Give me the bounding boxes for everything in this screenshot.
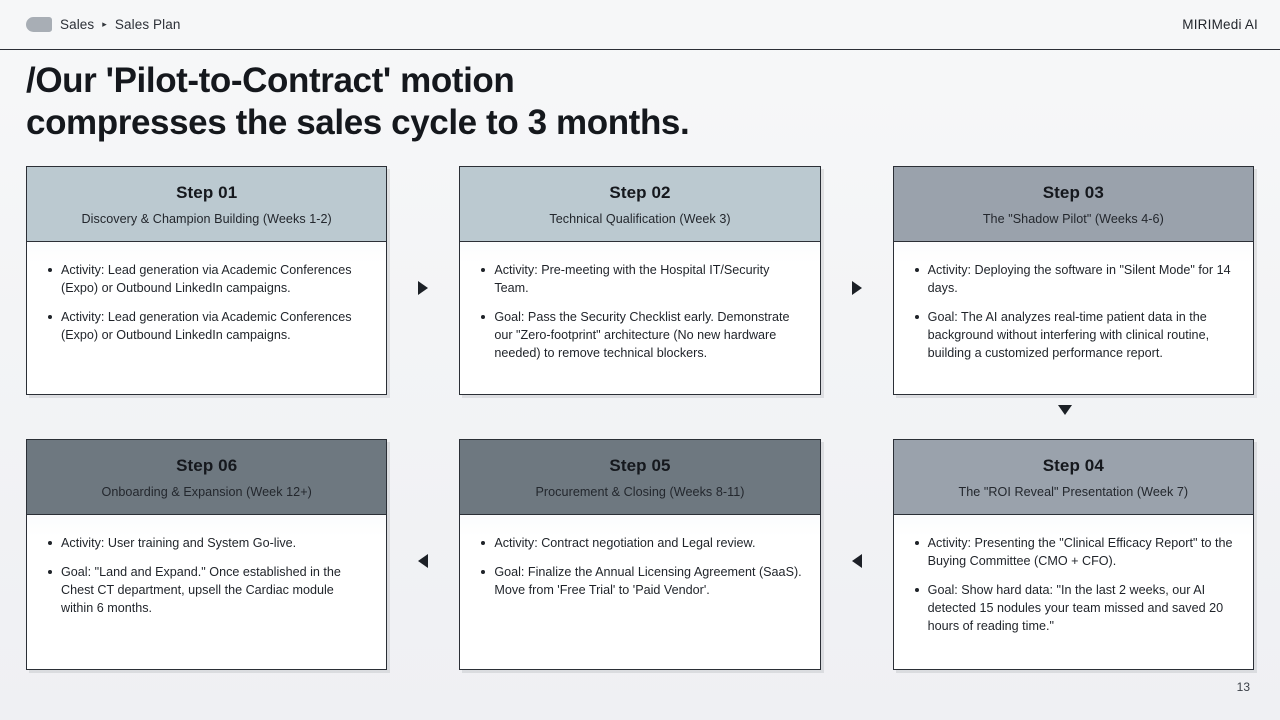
list-item: Activity: Lead generation via Academic C… bbox=[41, 262, 368, 298]
slide-canvas: Sales ▸ Sales Plan MIRIMedi AI /Our 'Pil… bbox=[0, 0, 1280, 720]
breadcrumb: Sales ▸ Sales Plan bbox=[26, 17, 180, 32]
step-card-04-title: Step 04 bbox=[906, 456, 1241, 476]
step-card-06-title: Step 06 bbox=[39, 456, 374, 476]
step-card-02-body: Activity: Pre-meeting with the Hospital … bbox=[460, 242, 819, 394]
list-item: Goal: The AI analyzes real-time patient … bbox=[908, 309, 1235, 363]
step-card-03-subtitle: The "Shadow Pilot" (Weeks 4-6) bbox=[906, 212, 1241, 226]
brand-label: MIRIMedi AI bbox=[1182, 17, 1258, 32]
breadcrumb-current[interactable]: Sales Plan bbox=[115, 17, 181, 32]
step-card-05-bullets: Activity: Contract negotiation and Legal… bbox=[474, 535, 801, 600]
step-card-01[interactable]: Step 01 Discovery & Champion Building (W… bbox=[26, 166, 387, 395]
steps-row-bottom: Step 06 Onboarding & Expansion (Week 12+… bbox=[26, 439, 1254, 670]
step-card-02-bullets: Activity: Pre-meeting with the Hospital … bbox=[474, 262, 801, 362]
step-card-03[interactable]: Step 03 The "Shadow Pilot" (Weeks 4-6) A… bbox=[893, 166, 1254, 395]
step-card-06-body: Activity: User training and System Go-li… bbox=[27, 515, 386, 669]
list-item: Activity: Contract negotiation and Legal… bbox=[474, 535, 801, 553]
list-item: Goal: "Land and Expand." Once establishe… bbox=[41, 564, 368, 618]
step-card-05-title: Step 05 bbox=[472, 456, 807, 476]
page-title-line-2: compresses the sales cycle to 3 months. bbox=[26, 102, 1240, 144]
step-card-05-subtitle: Procurement & Closing (Weeks 8-11) bbox=[472, 485, 807, 499]
step-card-06[interactable]: Step 06 Onboarding & Expansion (Week 12+… bbox=[26, 439, 387, 670]
top-bar: Sales ▸ Sales Plan MIRIMedi AI bbox=[0, 0, 1280, 50]
connector-02-to-03 bbox=[821, 166, 893, 295]
list-item: Activity: Pre-meeting with the Hospital … bbox=[474, 262, 801, 298]
step-card-05-header: Step 05 Procurement & Closing (Weeks 8-1… bbox=[460, 440, 819, 515]
step-card-01-title: Step 01 bbox=[39, 183, 374, 203]
connector-04-to-05 bbox=[821, 439, 893, 568]
step-card-01-body: Activity: Lead generation via Academic C… bbox=[27, 242, 386, 394]
steps-grid: Step 01 Discovery & Champion Building (W… bbox=[26, 166, 1254, 670]
page-title-line-1: /Our 'Pilot-to-Contract' motion bbox=[26, 60, 1240, 102]
arrow-left-icon bbox=[418, 554, 428, 568]
step-card-05-body: Activity: Contract negotiation and Legal… bbox=[460, 515, 819, 669]
pill-mark-icon bbox=[26, 17, 52, 32]
step-card-04-body: Activity: Presenting the "Clinical Effic… bbox=[894, 515, 1253, 669]
step-card-02-subtitle: Technical Qualification (Week 3) bbox=[472, 212, 807, 226]
breadcrumb-root[interactable]: Sales bbox=[60, 17, 94, 32]
arrow-right-icon bbox=[852, 281, 862, 295]
step-card-03-body: Activity: Deploying the software in "Sil… bbox=[894, 242, 1253, 394]
arrow-right-icon bbox=[418, 281, 428, 295]
step-card-01-bullets: Activity: Lead generation via Academic C… bbox=[41, 262, 368, 345]
step-card-04-header: Step 04 The "ROI Reveal" Presentation (W… bbox=[894, 440, 1253, 515]
step-card-01-header: Step 01 Discovery & Champion Building (W… bbox=[27, 167, 386, 242]
arrow-left-icon bbox=[852, 554, 862, 568]
list-item: Activity: User training and System Go-li… bbox=[41, 535, 368, 553]
connector-05-to-06 bbox=[387, 439, 459, 568]
list-item: Goal: Pass the Security Checklist early.… bbox=[474, 309, 801, 363]
page-title: /Our 'Pilot-to-Contract' motion compress… bbox=[26, 60, 1240, 144]
step-card-02[interactable]: Step 02 Technical Qualification (Week 3)… bbox=[459, 166, 820, 395]
list-item: Goal: Finalize the Annual Licensing Agre… bbox=[474, 564, 801, 600]
step-card-04[interactable]: Step 04 The "ROI Reveal" Presentation (W… bbox=[893, 439, 1254, 670]
page-number: 13 bbox=[1237, 680, 1250, 694]
step-card-03-header: Step 03 The "Shadow Pilot" (Weeks 4-6) bbox=[894, 167, 1253, 242]
connector-01-to-02 bbox=[387, 166, 459, 295]
step-card-03-bullets: Activity: Deploying the software in "Sil… bbox=[908, 262, 1235, 362]
step-card-05[interactable]: Step 05 Procurement & Closing (Weeks 8-1… bbox=[459, 439, 820, 670]
chevron-right-icon: ▸ bbox=[102, 20, 107, 29]
list-item: Goal: Show hard data: "In the last 2 wee… bbox=[908, 582, 1235, 636]
step-card-04-bullets: Activity: Presenting the "Clinical Effic… bbox=[908, 535, 1235, 635]
step-card-04-subtitle: The "ROI Reveal" Presentation (Week 7) bbox=[906, 485, 1241, 499]
step-card-06-header: Step 06 Onboarding & Expansion (Week 12+… bbox=[27, 440, 386, 515]
list-item: Activity: Presenting the "Clinical Effic… bbox=[908, 535, 1235, 571]
list-item: Activity: Lead generation via Academic C… bbox=[41, 309, 368, 345]
steps-row-top: Step 01 Discovery & Champion Building (W… bbox=[26, 166, 1254, 395]
step-card-06-bullets: Activity: User training and System Go-li… bbox=[41, 535, 368, 618]
step-card-01-subtitle: Discovery & Champion Building (Weeks 1-2… bbox=[39, 212, 374, 226]
step-card-02-header: Step 02 Technical Qualification (Week 3) bbox=[460, 167, 819, 242]
step-card-03-title: Step 03 bbox=[906, 183, 1241, 203]
step-card-02-title: Step 02 bbox=[472, 183, 807, 203]
list-item: Activity: Deploying the software in "Sil… bbox=[908, 262, 1235, 298]
step-card-06-subtitle: Onboarding & Expansion (Week 12+) bbox=[39, 485, 374, 499]
